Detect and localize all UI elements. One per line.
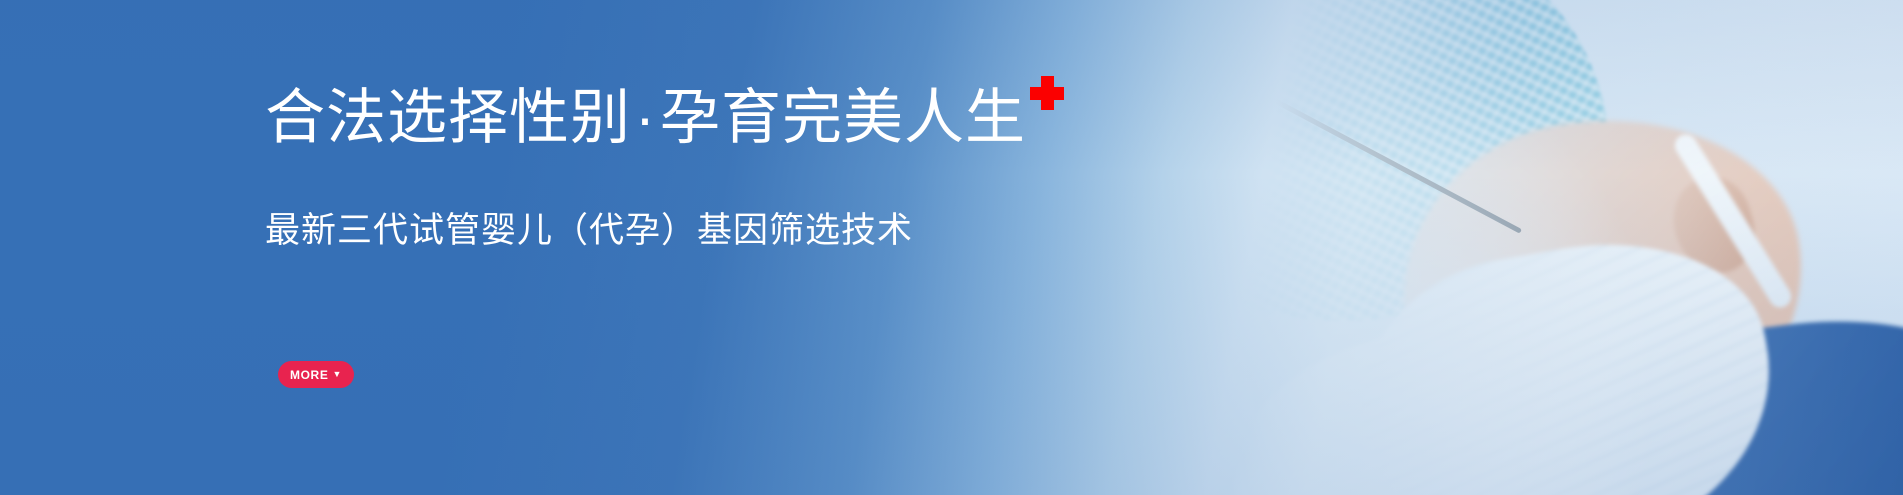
banner-content: 合法选择性别·孕育完美人生 最新三代试管婴儿（代孕）基因筛选技术 MORE ▼	[0, 0, 1903, 495]
chevron-down-icon: ▼	[332, 370, 342, 379]
more-button-label: MORE	[290, 368, 328, 382]
more-button[interactable]: MORE ▼	[278, 361, 354, 388]
banner-headline: 合法选择性别·孕育完美人生	[265, 76, 1064, 148]
headline-part-2: 孕育完美人生	[660, 84, 1026, 151]
medical-cross-vertical-bar	[1041, 76, 1054, 110]
medical-cross-icon	[1030, 76, 1064, 110]
banner-subtitle: 最新三代试管婴儿（代孕）基因筛选技术	[265, 210, 913, 252]
hero-banner: 合法选择性别·孕育完美人生 最新三代试管婴儿（代孕）基因筛选技术 MORE ▼	[0, 0, 1903, 495]
headline-separator: ·	[631, 84, 660, 151]
headline-part-1: 合法选择性别	[265, 84, 631, 151]
